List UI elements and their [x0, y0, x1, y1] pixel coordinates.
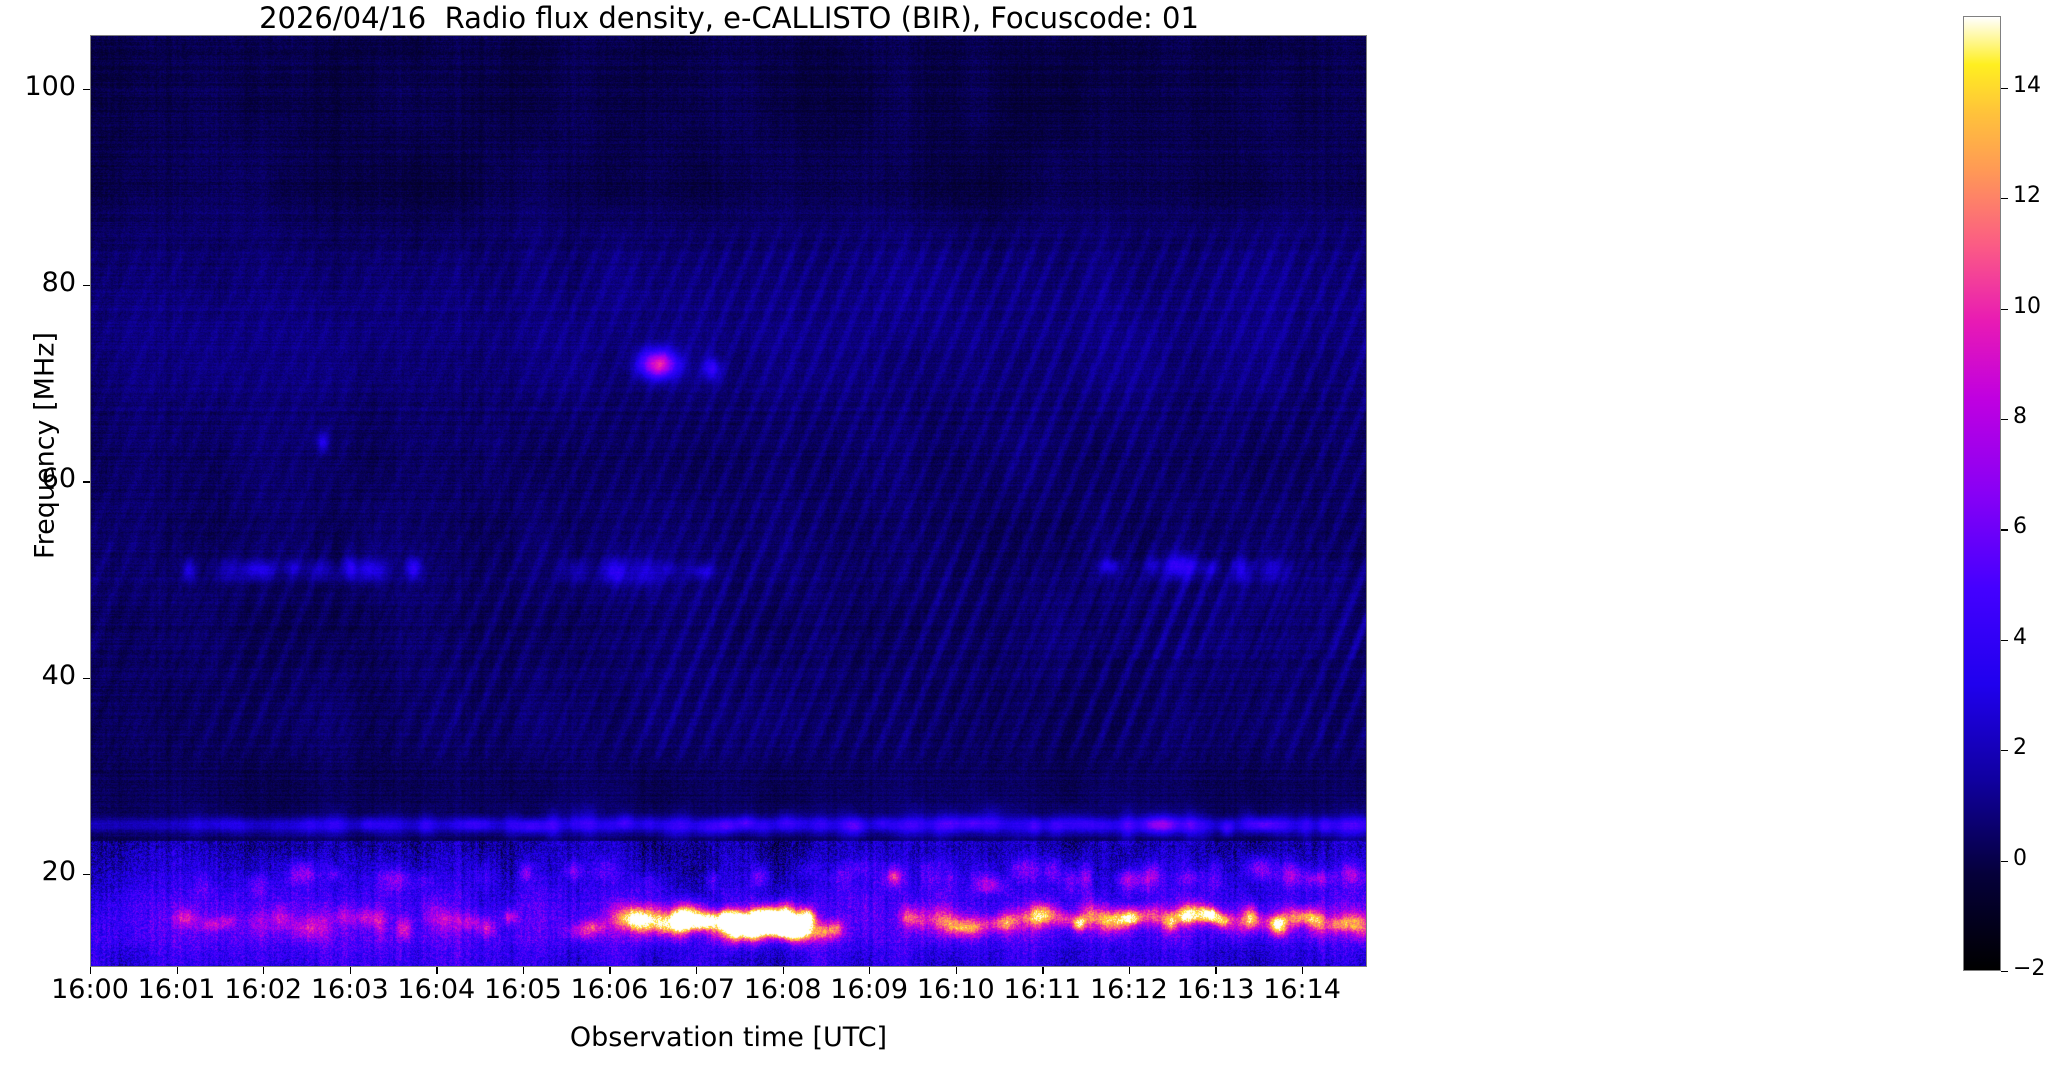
y-tick-label: 80: [0, 267, 76, 298]
colorbar-tick-mark: [2001, 529, 2008, 530]
colorbar-tick-mark: [2001, 309, 2008, 310]
colorbar-tick-mark: [2001, 640, 2008, 641]
x-tick-label: 16:05: [484, 974, 562, 1005]
x-tick-label: 16:08: [744, 974, 822, 1005]
x-axis-label: Observation time [UTC]: [90, 1022, 1367, 1053]
x-tick-label: 16:06: [571, 974, 649, 1005]
x-tick-mark: [956, 967, 957, 974]
colorbar-tick-mark: [2001, 971, 2008, 972]
colorbar-tick-mark: [2001, 861, 2008, 862]
x-tick-label: 16:11: [1003, 974, 1081, 1005]
x-tick-label: 16:09: [830, 974, 908, 1005]
x-tick-label: 16:04: [397, 974, 475, 1005]
colorbar-gradient: [1964, 17, 2000, 970]
y-tick-mark: [83, 89, 90, 90]
y-tick-mark: [83, 678, 90, 679]
x-tick-mark: [696, 967, 697, 974]
x-tick-label: 16:00: [51, 974, 129, 1005]
colorbar-tick-label: 2: [2013, 735, 2027, 760]
x-tick-mark: [436, 967, 437, 974]
y-tick-label: 100: [0, 71, 76, 102]
x-tick-mark: [263, 967, 264, 974]
colorbar-tick-label: 14: [2013, 73, 2041, 98]
y-tick-mark: [83, 874, 90, 875]
x-tick-mark: [1042, 967, 1043, 974]
x-tick-label: 16:01: [138, 974, 216, 1005]
x-tick-mark: [523, 967, 524, 974]
x-tick-label: 16:03: [311, 974, 389, 1005]
x-tick-label: 16:07: [657, 974, 735, 1005]
page-title: 2026/04/16 Radio flux density, e-CALLIST…: [90, 2, 1368, 34]
colorbar-tick-mark: [2001, 88, 2008, 89]
x-tick-mark: [90, 967, 91, 974]
x-tick-mark: [1129, 967, 1130, 974]
x-tick-label: 16:02: [224, 974, 302, 1005]
colorbar-tick-label: 8: [2013, 404, 2027, 429]
colorbar-tick-label: 12: [2013, 183, 2041, 208]
spectrogram-heatmap: [91, 36, 1367, 967]
colorbar-tick-mark: [2001, 198, 2008, 199]
colorbar-tick-label: 6: [2013, 514, 2027, 539]
y-tick-mark: [83, 481, 90, 482]
colorbar-tick-label: 4: [2013, 625, 2027, 650]
x-tick-mark: [350, 967, 351, 974]
x-tick-label: 16:14: [1263, 974, 1341, 1005]
y-tick-label: 40: [0, 660, 76, 691]
y-axis-label: Frequency [MHz]: [30, 246, 61, 646]
x-tick-mark: [869, 967, 870, 974]
x-tick-label: 16:10: [917, 974, 995, 1005]
y-tick-mark: [83, 285, 90, 286]
x-tick-label: 16:13: [1177, 974, 1255, 1005]
spectrogram-axes: [90, 35, 1367, 967]
colorbar: [1963, 16, 2001, 971]
x-tick-mark: [609, 967, 610, 974]
x-tick-label: 16:12: [1090, 974, 1168, 1005]
x-tick-mark: [783, 967, 784, 974]
colorbar-tick-label: −2: [2013, 956, 2045, 981]
y-tick-label: 60: [0, 463, 76, 494]
x-tick-mark: [1215, 967, 1216, 974]
colorbar-tick-label: 10: [2013, 294, 2041, 319]
colorbar-tick-mark: [2001, 750, 2008, 751]
colorbar-tick-label: 0: [2013, 846, 2027, 871]
colorbar-tick-mark: [2001, 419, 2008, 420]
x-tick-mark: [1302, 967, 1303, 974]
x-tick-mark: [177, 967, 178, 974]
y-tick-label: 20: [0, 856, 76, 887]
